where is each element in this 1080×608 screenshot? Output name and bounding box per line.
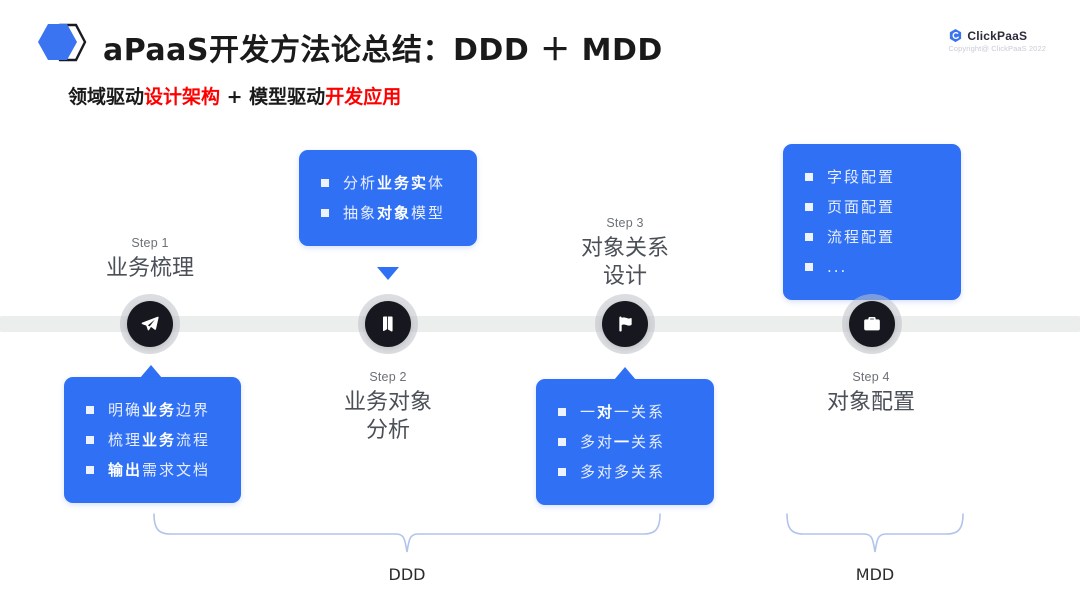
paper-plane-icon [140,314,160,334]
bullet-icon [86,466,94,474]
timeline-node-4[interactable] [849,301,895,347]
item-text: 多对 [580,427,614,457]
callout-list-2: 分析业务实体 抽象对象模型 [321,168,455,228]
step-number-1: Step 1 [50,236,250,250]
callout-step-1: 明确业务边界 梳理业务流程 输出需求文档 [64,377,241,503]
flag-icon [615,314,635,334]
item-text: 字段配置 [827,162,895,192]
step-label-2: Step 2 业务对象 分析 [288,370,488,445]
item-text-bold: 业务 [142,395,176,425]
item-text-bold: 业务实 [377,168,428,198]
step-number-3: Step 3 [525,216,725,230]
list-item: 多对一关系 [558,427,692,457]
item-text-bold: 输出 [108,455,142,485]
list-item: 多对多关系 [558,457,692,487]
brace-mdd [783,512,967,554]
item-text: ... [827,252,847,282]
list-item: 分析业务实体 [321,168,455,198]
item-text: 梳理 [108,425,142,455]
callout-list-4: 字段配置 页面配置 流程配置 ... [805,162,939,282]
hexagon-logo-icon [36,22,94,64]
briefcase-icon [862,314,882,334]
step-title-4: 对象配置 [771,389,971,417]
bullet-icon [86,406,94,414]
callout-step-2: 分析业务实体 抽象对象模型 [299,150,477,246]
item-text: 明确 [108,395,142,425]
item-text-bold: 业务 [142,425,176,455]
item-text: 一 [580,397,597,427]
list-item: 流程配置 [805,222,939,252]
item-text: 关系 [631,457,665,487]
step-label-1: Step 1 业务梳理 [50,236,250,283]
subtitle-part-4-highlight: 开发应用 [325,86,401,108]
timeline-node-1[interactable] [127,301,173,347]
list-item: ... [805,252,939,282]
item-text: 一关系 [614,397,665,427]
list-item: 字段配置 [805,162,939,192]
slide-canvas: aPaaS开发方法论总结：DDD ＋ MDD 领域驱动设计架构 + 模型驱动开发… [0,0,1080,608]
list-item: 输出需求文档 [86,455,219,485]
bullet-icon [805,203,813,211]
item-text: 模型 [411,198,445,228]
list-item: 一对一关系 [558,397,692,427]
item-text: 流程配置 [827,222,895,252]
item-text: 多对多 [580,457,631,487]
timeline-node-2[interactable] [365,301,411,347]
bullet-icon [86,436,94,444]
clickpaas-hex-icon [948,28,963,43]
subtitle-part-1: 领域驱动 [68,86,144,108]
brand-name: ClickPaaS [967,29,1027,43]
list-item: 明确业务边界 [86,395,219,425]
item-text: 抽象 [343,198,377,228]
item-text-bold: 一 [614,427,631,457]
subtitle-part-2-highlight: 设计架构 [144,86,220,108]
item-text: 边界 [176,395,210,425]
callout-step-4: 字段配置 页面配置 流程配置 ... [783,144,961,300]
callout-step-3: 一对一关系 多对一关系 多对多关系 [536,379,714,505]
bullet-icon [321,209,329,217]
callout-list-1: 明确业务边界 梳理业务流程 输出需求文档 [86,395,219,485]
bullet-icon [805,263,813,271]
brace-label-mdd: MDD [795,565,955,584]
page-title: aPaaS开发方法论总结：DDD ＋ MDD [103,25,663,69]
item-text-bold: 对 [597,397,614,427]
step-label-4: Step 4 对象配置 [771,370,971,417]
bullet-icon [558,408,566,416]
item-text: 体 [428,168,445,198]
list-item: 抽象对象模型 [321,198,455,228]
callout-list-3: 一对一关系 多对一关系 多对多关系 [558,397,692,487]
page-subtitle: 领域驱动设计架构 + 模型驱动开发应用 [68,82,401,109]
step-number-2: Step 2 [288,370,488,384]
item-text: 关系 [631,427,665,457]
item-text: 分析 [343,168,377,198]
brace-label-ddd: DDD [327,565,487,584]
brand-logo: ClickPaaS Copyright@ ClickPaaS 2022 [948,28,1046,53]
brace-ddd [150,512,664,554]
bullet-icon [558,438,566,446]
callout-tail-2 [377,267,399,280]
book-icon [378,314,398,334]
list-item: 页面配置 [805,192,939,222]
step-number-4: Step 4 [771,370,971,384]
item-text: 需求文档 [142,455,210,485]
timeline-node-3[interactable] [602,301,648,347]
item-text: 页面配置 [827,192,895,222]
step-title-1: 业务梳理 [50,255,250,283]
bullet-icon [558,468,566,476]
list-item: 梳理业务流程 [86,425,219,455]
copyright-text: Copyright@ ClickPaaS 2022 [948,44,1046,53]
bullet-icon [805,173,813,181]
item-text: 流程 [176,425,210,455]
subtitle-part-3: + 模型驱动 [220,86,325,108]
bullet-icon [805,233,813,241]
step-title-3: 对象关系 设计 [525,235,725,291]
bullet-icon [321,179,329,187]
item-text-bold: 对象 [377,198,411,228]
step-title-2: 业务对象 分析 [288,389,488,445]
step-label-3: Step 3 对象关系 设计 [525,216,725,291]
